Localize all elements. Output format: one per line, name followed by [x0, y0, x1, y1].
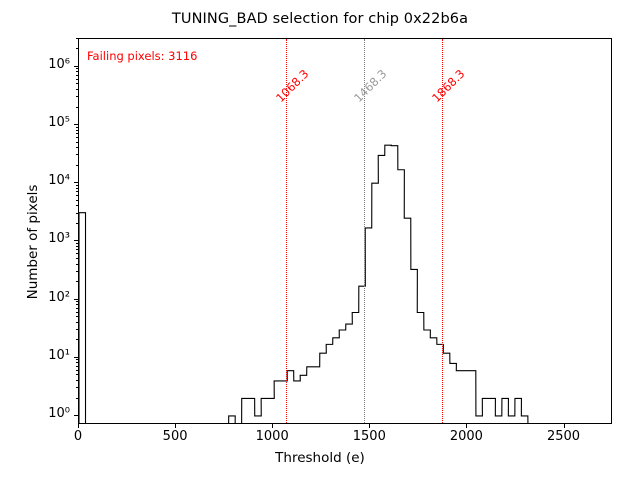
x-tick-label: 1500	[353, 429, 386, 444]
x-tick-mark	[175, 424, 176, 428]
chart-title: TUNING_BAD selection for chip 0x22b6a	[0, 11, 640, 27]
x-axis-label: Threshold (e)	[0, 450, 640, 466]
x-tick-label: 0	[74, 429, 82, 444]
y-tick-label: 10¹	[18, 348, 70, 363]
x-tick-mark	[78, 424, 79, 428]
plot-area: Failing pixels: 3116 1068.31468.31868.3	[78, 38, 612, 424]
y-tick-label: 10⁵	[18, 115, 70, 130]
histogram-outline	[79, 145, 612, 424]
histogram-steps	[79, 39, 612, 424]
x-tick-label: 1000	[256, 429, 289, 444]
x-tick-mark	[466, 424, 467, 428]
y-tick-label: 10²	[18, 290, 70, 305]
y-tick-label: 10⁶	[18, 57, 70, 72]
y-tick-label: 10⁰	[18, 406, 70, 421]
x-tick-label: 2500	[547, 429, 580, 444]
figure: TUNING_BAD selection for chip 0x22b6a Nu…	[0, 0, 640, 480]
x-tick-label: 500	[163, 429, 188, 444]
x-tick-label: 2000	[450, 429, 483, 444]
x-tick-mark	[369, 424, 370, 428]
y-tick-label: 10³	[18, 231, 70, 246]
y-tick-label: 10⁴	[18, 173, 70, 188]
x-tick-mark	[564, 424, 565, 428]
x-tick-mark	[272, 424, 273, 428]
